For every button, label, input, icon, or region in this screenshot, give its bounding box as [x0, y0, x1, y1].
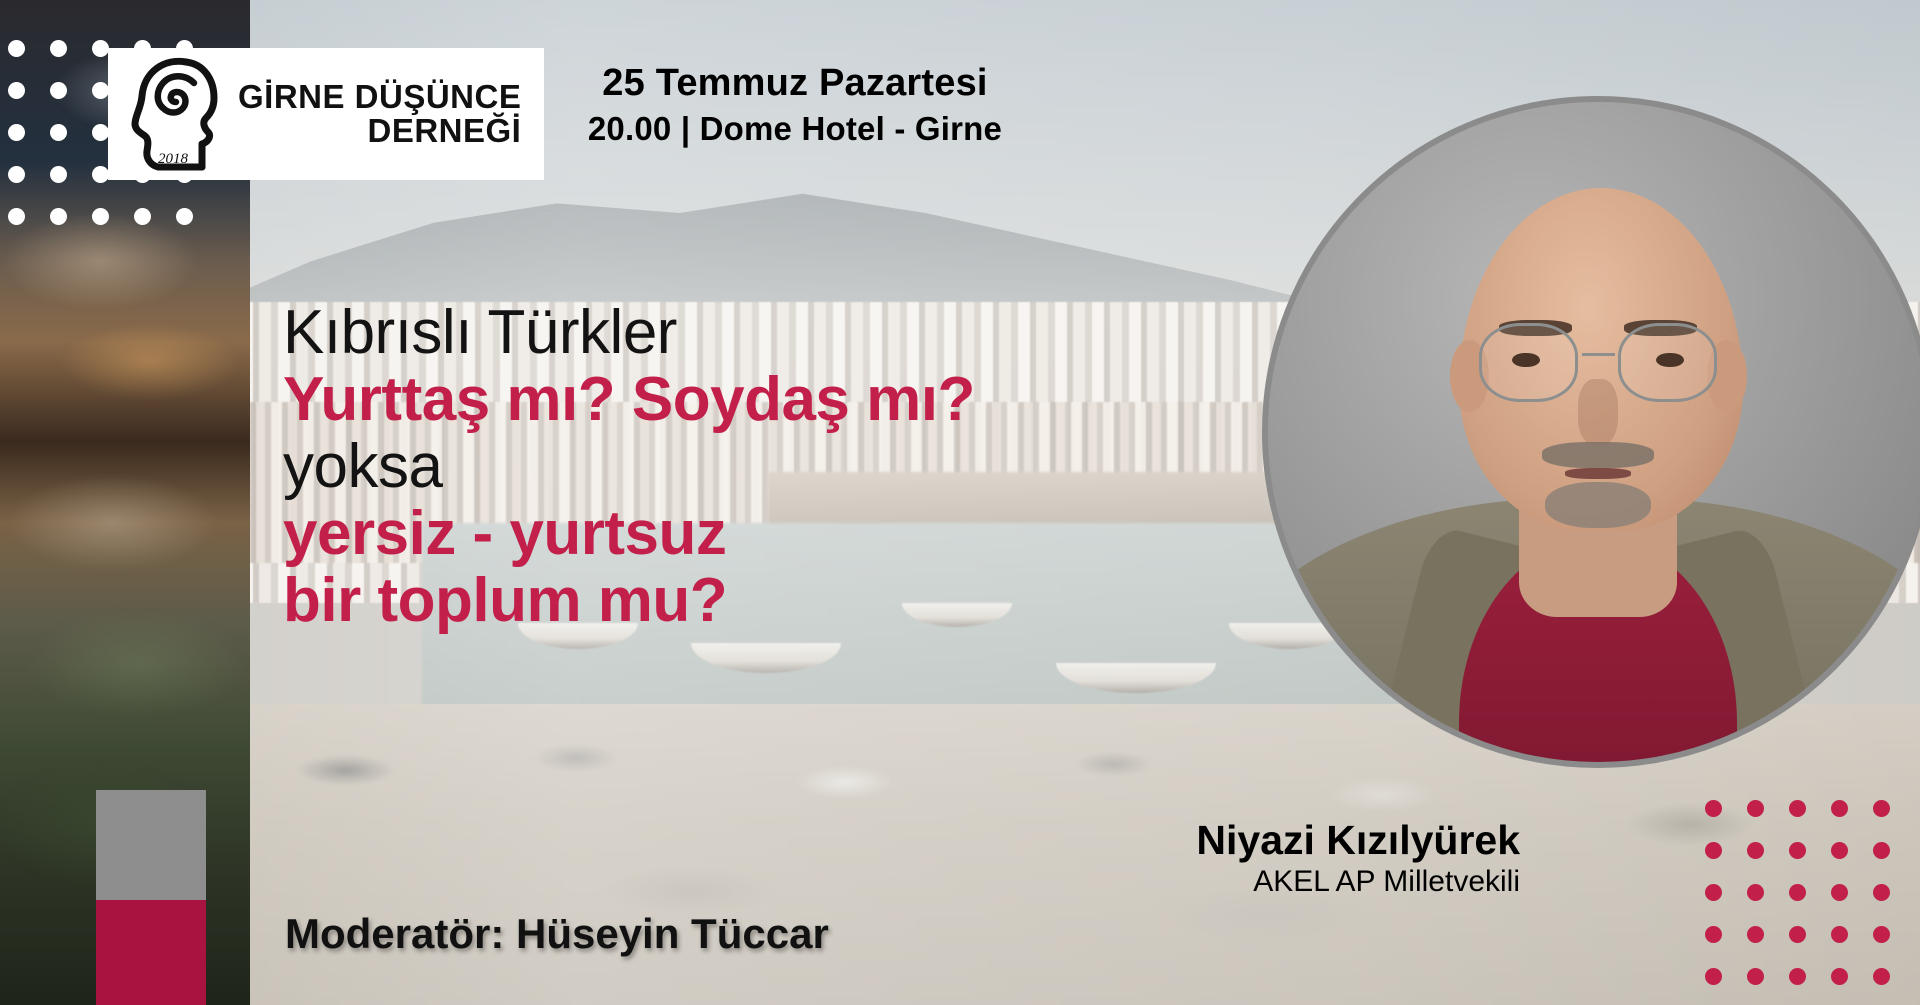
decor-accent-block [96, 900, 206, 1005]
speaker-name: Niyazi Kızılyürek [860, 818, 1520, 864]
headline-line-3: yoksa [283, 434, 975, 501]
decor-dot [50, 124, 67, 141]
decor-dot [92, 40, 109, 57]
event-poster: 2018 GİRNE DÜŞÜNCE DERNEĞİ 25 Temmuz Paz… [0, 0, 1920, 1005]
decor-dot [1831, 842, 1848, 859]
decor-dot [92, 208, 109, 225]
decor-dot [50, 208, 67, 225]
decor-dot [1747, 842, 1764, 859]
decor-dot [134, 208, 151, 225]
portrait-beard [1545, 482, 1651, 528]
portrait-nose [1578, 379, 1618, 445]
decor-dot [1705, 968, 1722, 985]
decor-dot [8, 40, 25, 57]
speaker-caption: Niyazi Kızılyürek AKEL AP Milletvekili [860, 818, 1520, 900]
decor-dot [1705, 926, 1722, 943]
logo-year-text: 2018 [158, 151, 189, 167]
headline-line-5: bir toplum mu? [283, 568, 975, 635]
portrait-moustache [1542, 442, 1654, 468]
portrait-eyeglass-bridge [1582, 353, 1615, 373]
decor-dot [1873, 884, 1890, 901]
decor-dot [176, 208, 193, 225]
decor-dot [1789, 800, 1806, 817]
decor-dot [50, 40, 67, 57]
decor-dot [8, 208, 25, 225]
decor-dot [50, 82, 67, 99]
decor-dot [1873, 968, 1890, 985]
headline-line-4: yersiz - yurtsuz [283, 501, 975, 568]
decor-dot [1747, 968, 1764, 985]
decor-dot [1873, 800, 1890, 817]
decor-dot [1705, 884, 1722, 901]
decor-dot [1831, 968, 1848, 985]
logo-line-1: GİRNE DÜŞÜNCE [238, 80, 521, 114]
decor-dot [1789, 842, 1806, 859]
decor-dot [50, 166, 67, 183]
decor-dot [92, 82, 109, 99]
decor-dot [1831, 884, 1848, 901]
event-date: 25 Temmuz Pazartesi [560, 60, 1030, 108]
decor-dot [1831, 800, 1848, 817]
decor-dot [1747, 926, 1764, 943]
decor-dot [1705, 842, 1722, 859]
decor-dot [1789, 968, 1806, 985]
decor-dot [8, 166, 25, 183]
portrait-eye-right [1656, 353, 1684, 368]
decor-dot [8, 82, 25, 99]
decor-dot [92, 124, 109, 141]
portrait-mouth [1565, 468, 1631, 479]
decor-dot [1747, 800, 1764, 817]
head-spiral-brain-icon: 2018 [124, 50, 232, 178]
headline-line-1: Kıbrıslı Türkler [283, 300, 975, 367]
event-datetime-block: 25 Temmuz Pazartesi 20.00 | Dome Hotel -… [560, 60, 1030, 150]
organization-name: GİRNE DÜŞÜNCE DERNEĞİ [238, 80, 521, 147]
organization-logo-card: 2018 GİRNE DÜŞÜNCE DERNEĞİ [108, 48, 544, 180]
headline-line-2: Yurttaş mı? Soydaş mı? [283, 367, 975, 434]
moderator-label: Moderatör: Hüseyin Tüccar [285, 910, 829, 958]
decor-dot [1747, 884, 1764, 901]
decor-dot [1789, 884, 1806, 901]
decor-dot [1873, 926, 1890, 943]
decor-dot [1873, 842, 1890, 859]
decor-dot [1831, 926, 1848, 943]
speaker-portrait [1262, 96, 1920, 768]
event-time-venue: 20.00 | Dome Hotel - Girne [560, 108, 1030, 151]
logo-line-2: DERNEĞİ [238, 114, 521, 148]
decor-dot [1705, 800, 1722, 817]
portrait-eye-left [1512, 353, 1540, 368]
decor-dot [1789, 926, 1806, 943]
decor-dot [92, 166, 109, 183]
decor-dot [8, 124, 25, 141]
headline-block: Kıbrıslı Türkler Yurttaş mı? Soydaş mı? … [283, 300, 975, 635]
speaker-title: AKEL AP Milletvekili [860, 864, 1520, 900]
